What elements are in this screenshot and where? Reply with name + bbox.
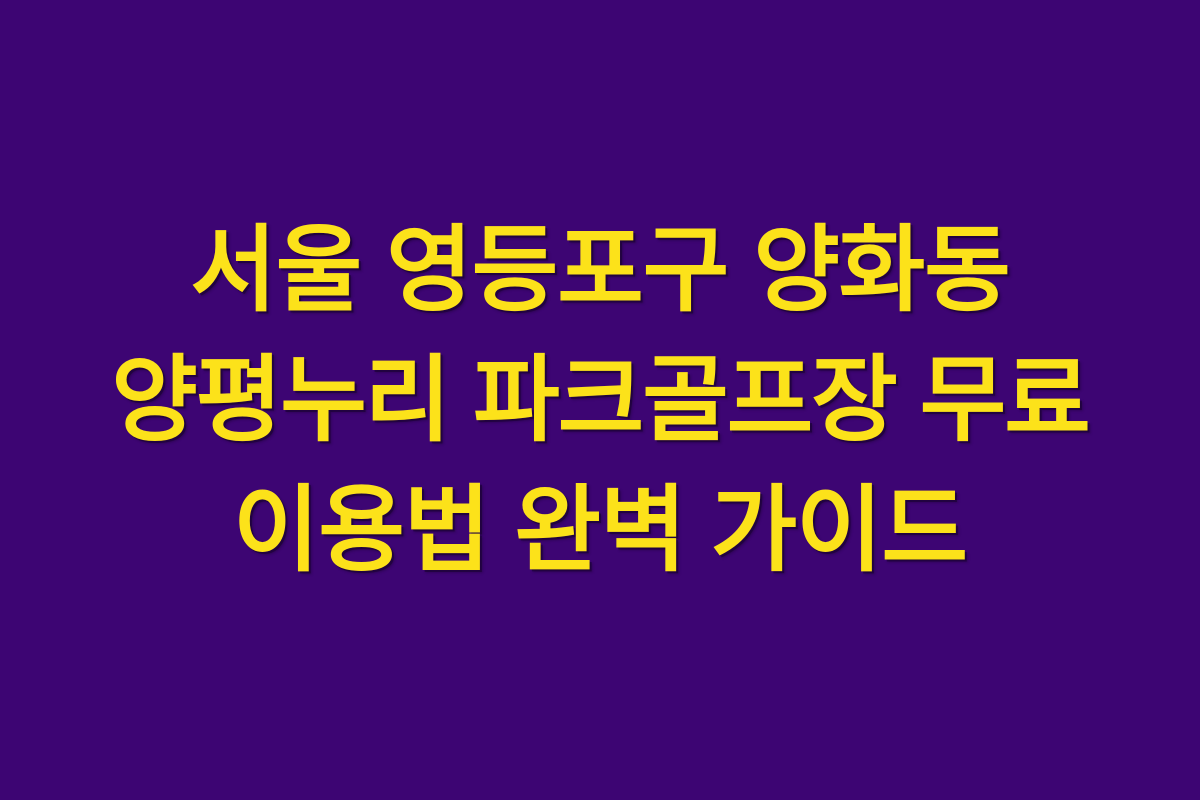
title-line-3: 이용법 완벽 가이드 bbox=[18, 465, 1182, 595]
title-line-2: 양평누리 파크골프장 무료 bbox=[18, 335, 1182, 465]
page-title: 서울 영등포구 양화동 양평누리 파크골프장 무료 이용법 완벽 가이드 bbox=[18, 205, 1182, 595]
title-card: 서울 영등포구 양화동 양평누리 파크골프장 무료 이용법 완벽 가이드 bbox=[0, 0, 1200, 800]
title-line-1: 서울 영등포구 양화동 bbox=[18, 205, 1182, 335]
